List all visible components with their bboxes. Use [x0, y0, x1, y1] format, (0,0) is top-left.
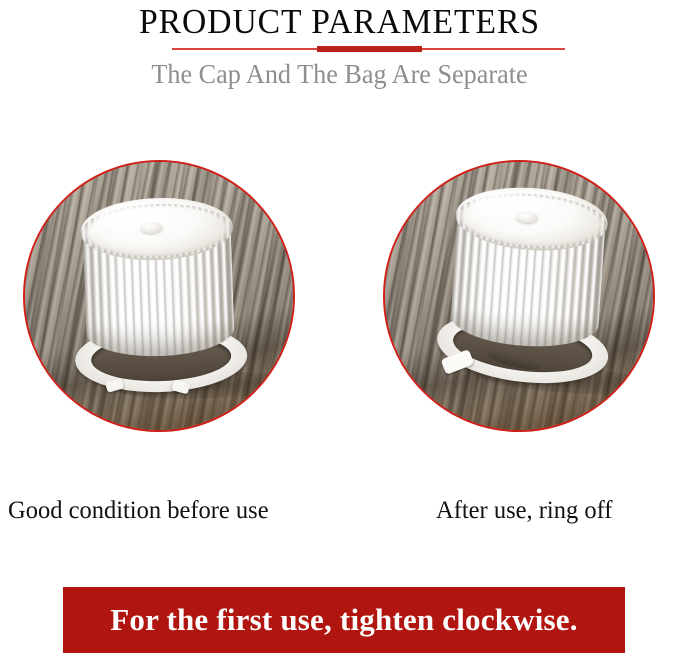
header: PRODUCT PARAMETERS The Cap And The Bag A…	[0, 0, 679, 90]
caption-cap-good: Good condition before use	[8, 494, 269, 528]
photo-gallery	[0, 160, 679, 435]
plastic-cap-ring-off	[438, 182, 617, 389]
page-subtitle: The Cap And The Bag Are Separate	[10, 42, 669, 90]
photo-circle-cap-good	[23, 160, 295, 432]
instruction-banner-text: For the first use, tighten clockwise.	[110, 603, 577, 637]
instruction-banner: For the first use, tighten clockwise.	[63, 587, 625, 653]
caption-cap-used: After use, ring off	[436, 494, 612, 528]
plastic-cap-intact	[74, 195, 247, 397]
photo-circle-cap-used	[383, 160, 655, 432]
page-title: PRODUCT PARAMETERS	[14, 2, 666, 42]
photo-captions: Good condition before use After use, rin…	[0, 494, 679, 534]
tamper-ring-detached-tab	[441, 349, 475, 375]
